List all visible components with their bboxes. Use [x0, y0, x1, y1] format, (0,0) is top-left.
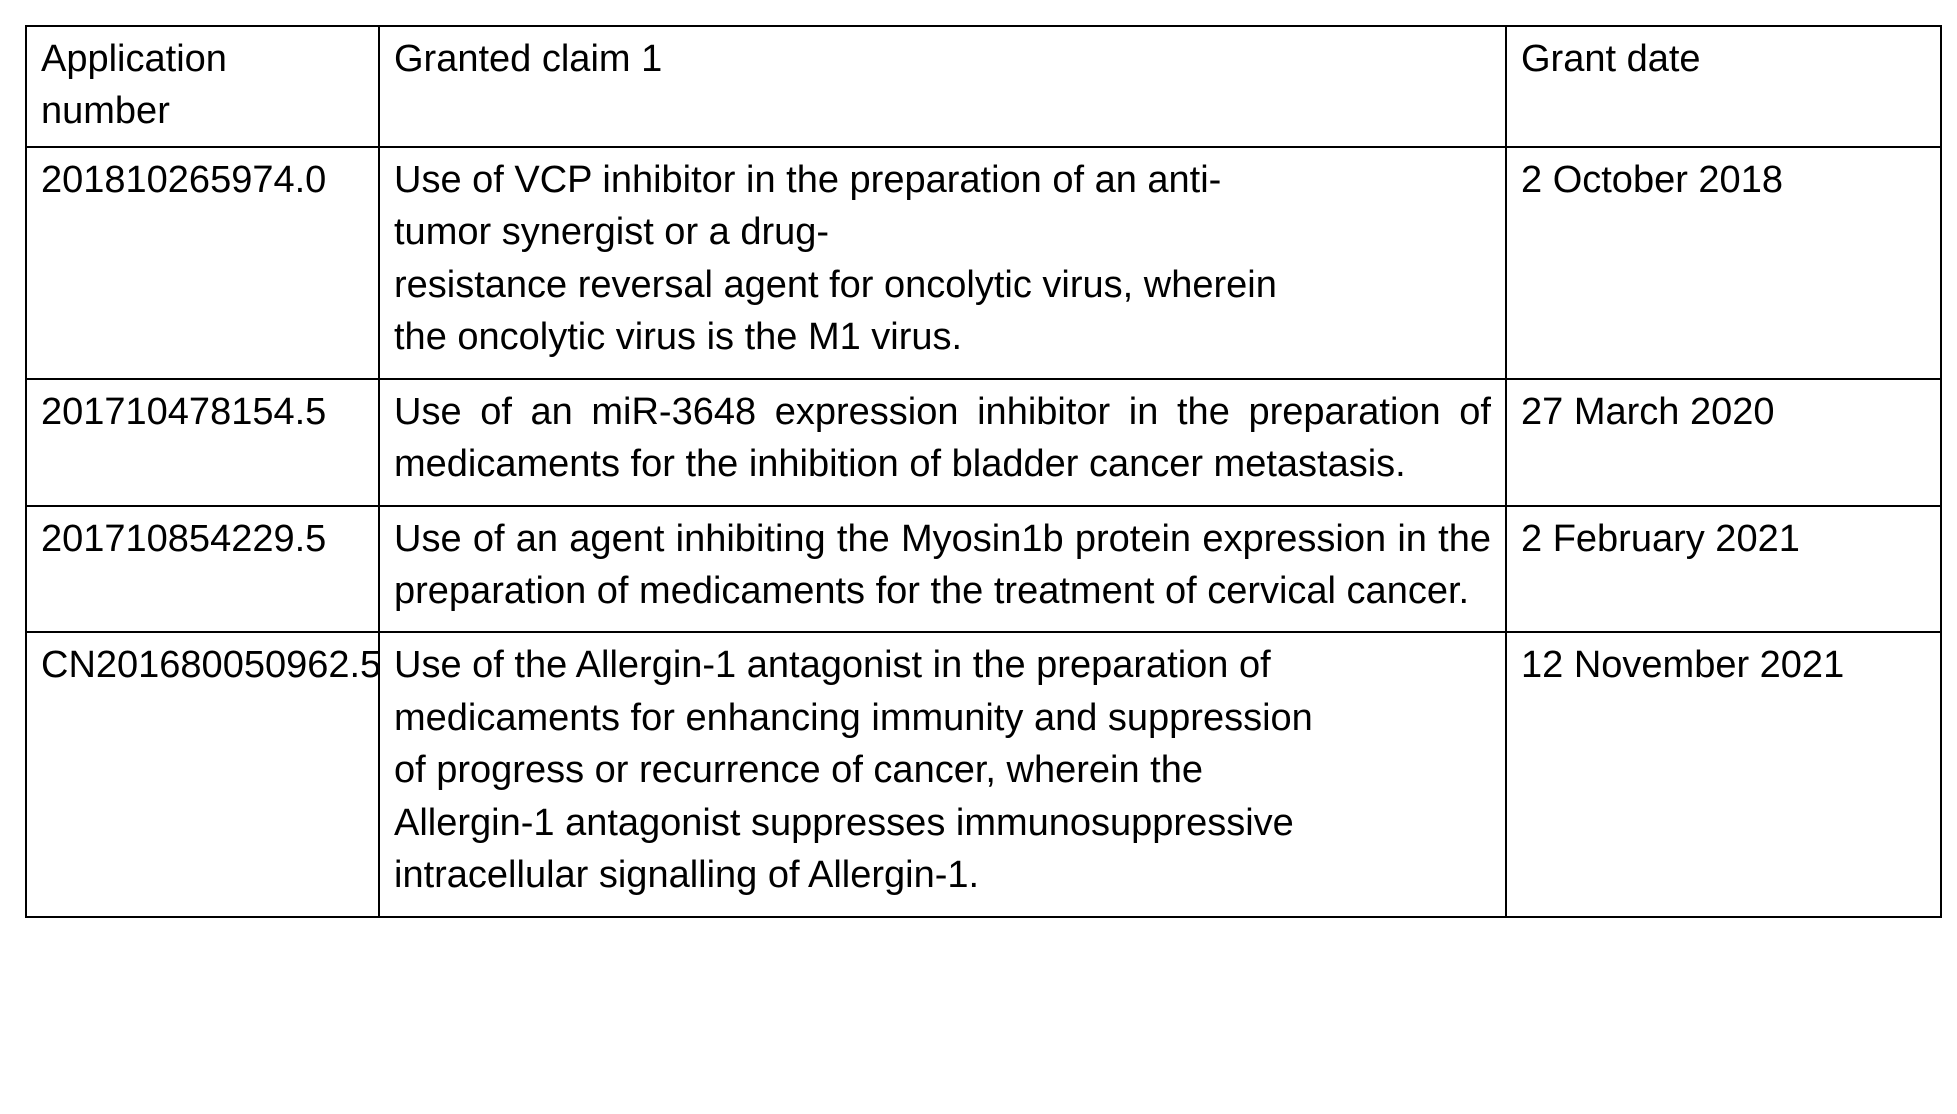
granted-claim-value: Use of an miR-3648 expression inhibitor … — [394, 386, 1491, 491]
table-body: 201810265974.0 Use of VCP inhibitor in t… — [26, 147, 1941, 917]
table-row: 201710478154.5 Use of an miR-3648 expres… — [26, 379, 1941, 506]
table-header-row: Application number Granted claim 1 Grant… — [26, 26, 1941, 147]
page-root: Application number Granted claim 1 Grant… — [0, 0, 1957, 1114]
cell-grant-date: 2 October 2018 — [1506, 147, 1941, 379]
cell-granted-claim: Use of the Allergin-1 antagonist in the … — [379, 632, 1506, 916]
application-number-value: 201710478154.5 — [41, 386, 364, 438]
application-number-value: 201710854229.5 — [41, 513, 364, 565]
granted-claim-value: Use of the Allergin-1 antagonist in the … — [394, 639, 1491, 901]
cell-application-number: 201810265974.0 — [26, 147, 379, 379]
grant-date-value: 27 March 2020 — [1521, 386, 1926, 438]
cell-granted-claim: Use of VCP inhibitor in the preparation … — [379, 147, 1506, 379]
cell-grant-date: 12 November 2021 — [1506, 632, 1941, 916]
column-header-grant-date: Grant date — [1506, 26, 1941, 147]
column-header-grant-date-label: Grant date — [1521, 33, 1926, 85]
table-row: 201710854229.5 Use of an agent inhibitin… — [26, 506, 1941, 633]
column-header-granted-claim-label: Granted claim 1 — [394, 33, 1491, 85]
column-header-application-number-label: Application number — [41, 33, 364, 138]
cell-application-number: CN201680050962.5 — [26, 632, 379, 916]
cell-application-number: 201710478154.5 — [26, 379, 379, 506]
table-row: 201810265974.0 Use of VCP inhibitor in t… — [26, 147, 1941, 379]
cell-granted-claim: Use of an miR-3648 expression inhibitor … — [379, 379, 1506, 506]
cell-grant-date: 27 March 2020 — [1506, 379, 1941, 506]
column-header-granted-claim: Granted claim 1 — [379, 26, 1506, 147]
cell-grant-date: 2 February 2021 — [1506, 506, 1941, 633]
table-row: CN201680050962.5 Use of the Allergin-1 a… — [26, 632, 1941, 916]
application-number-value: CN201680050962.5 — [41, 639, 364, 691]
granted-claims-table: Application number Granted claim 1 Grant… — [25, 25, 1942, 918]
cell-application-number: 201710854229.5 — [26, 506, 379, 633]
granted-claim-value: Use of VCP inhibitor in the preparation … — [394, 154, 1491, 364]
granted-claim-value: Use of an agent inhibiting the Myosin1b … — [394, 513, 1491, 618]
column-header-application-number: Application number — [26, 26, 379, 147]
grant-date-value: 2 October 2018 — [1521, 154, 1926, 206]
grant-date-value: 12 November 2021 — [1521, 639, 1926, 691]
cell-granted-claim: Use of an agent inhibiting the Myosin1b … — [379, 506, 1506, 633]
table-header: Application number Granted claim 1 Grant… — [26, 26, 1941, 147]
grant-date-value: 2 February 2021 — [1521, 513, 1926, 565]
application-number-value: 201810265974.0 — [41, 154, 364, 206]
